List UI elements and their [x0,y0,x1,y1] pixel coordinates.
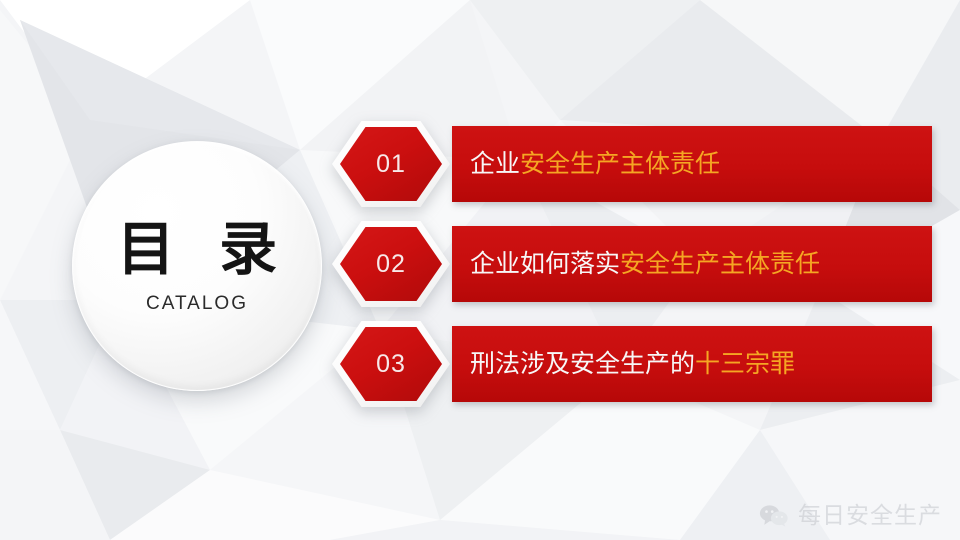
agenda-label-01-gold: 安全生产主体责任 [520,149,720,178]
agenda-label-02: 企业如何落实安全生产主体责任 [470,250,820,278]
agenda-number-02: 02 [376,252,406,277]
agenda-label-01: 企业安全生产主体责任 [470,150,720,178]
hexagon-badge-01[interactable]: 01 [332,121,450,207]
watermark-text: 每日安全生产 [798,505,942,528]
catalog-circle: 目 录 CATALOG [72,141,322,391]
agenda-label-02-gold: 安全生产主体责任 [620,249,820,278]
agenda-label-03-white: 刑法涉及安全生产的 [470,349,695,378]
agenda-bar-01[interactable]: 企业安全生产主体责任 [452,126,932,202]
agenda-bar-02[interactable]: 企业如何落实安全生产主体责任 [452,226,932,302]
agenda-label-03: 刑法涉及安全生产的十三宗罪 [470,350,795,378]
agenda-number-01: 01 [376,152,406,177]
agenda-number-03: 03 [376,352,406,377]
watermark: 每日安全生产 [759,504,942,528]
agenda-label-02-white: 企业如何落实 [470,249,620,278]
agenda-bar-03[interactable]: 刑法涉及安全生产的十三宗罪 [452,326,932,402]
agenda-label-03-gold: 十三宗罪 [695,349,795,378]
hexagon-badge-03[interactable]: 03 [332,321,450,407]
agenda-label-01-white: 企业 [470,149,520,178]
slide-canvas: 目 录 CATALOG 01 企业安全生产主体责任 02 [0,0,960,540]
hexagon-badge-02[interactable]: 02 [332,221,450,307]
page-title: 目 录 [105,220,289,278]
page-subtitle: CATALOG [146,294,248,313]
wechat-icon [759,504,789,528]
